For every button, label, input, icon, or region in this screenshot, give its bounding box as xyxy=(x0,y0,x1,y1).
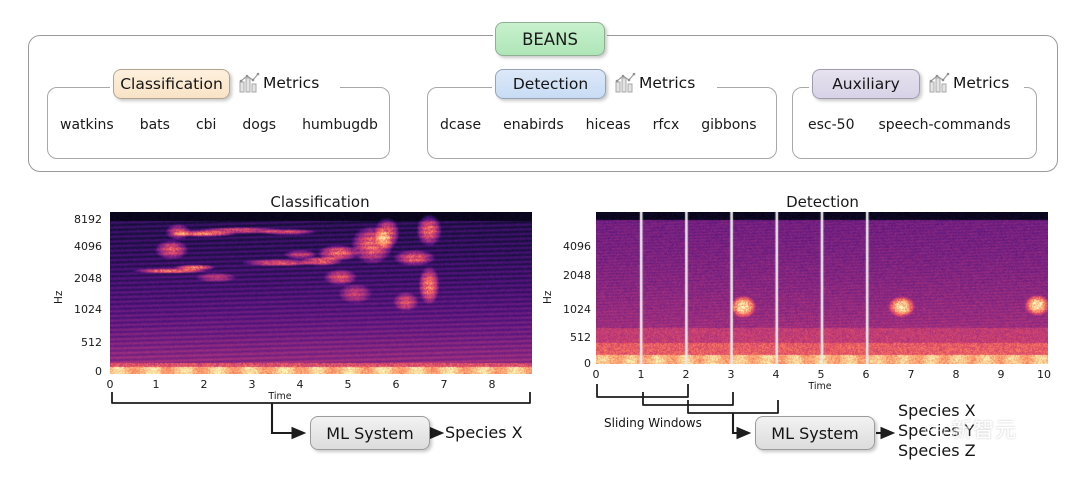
xtick-detection: 7 xyxy=(898,368,924,381)
dataset-item[interactable]: speech-commands xyxy=(878,117,1010,133)
classification-bracket xyxy=(112,392,530,403)
xtick-classification: 7 xyxy=(430,378,458,391)
dataset-item[interactable]: watkins xyxy=(60,117,114,133)
ytick-detection: 512 xyxy=(547,331,591,344)
dataset-item[interactable]: gibbons xyxy=(701,117,756,133)
metrics-detection: Metrics xyxy=(612,72,699,94)
ytick-classification: 2048 xyxy=(58,272,102,285)
classification-spectrogram xyxy=(110,212,532,374)
classification-input-arrow xyxy=(272,403,303,433)
dataset-list-auxiliary: esc-50 speech-commands xyxy=(808,117,1023,133)
ytick-detection: 1024 xyxy=(547,303,591,316)
ytick-classification: 1024 xyxy=(58,303,102,316)
dataset-item[interactable]: hiceas xyxy=(586,117,631,133)
ytick-classification: 512 xyxy=(58,336,102,349)
sliding-window-bracket-2 xyxy=(643,392,733,405)
xtick-detection: 5 xyxy=(808,368,834,381)
bar-chart-trend-icon xyxy=(614,72,636,94)
xtick-detection: 2 xyxy=(673,368,699,381)
xtick-classification: 6 xyxy=(382,378,410,391)
xtick-classification: 3 xyxy=(238,378,266,391)
metrics-label-text: Metrics xyxy=(953,74,1009,92)
metrics-auxiliary: Metrics xyxy=(926,72,1013,94)
beans-root-chip[interactable]: BEANS xyxy=(495,22,605,56)
metrics-label-text: Metrics xyxy=(263,74,319,92)
dataset-item[interactable]: dcase xyxy=(440,117,481,133)
dataset-item[interactable]: bats xyxy=(140,117,170,133)
output-label-detection: Species X Species Y Species Z xyxy=(898,401,976,461)
ml-system-box-detection[interactable]: ML System xyxy=(755,416,875,450)
task-chip-detection[interactable]: Detection xyxy=(495,69,606,99)
xtick-detection: 6 xyxy=(853,368,879,381)
xtick-detection: 9 xyxy=(988,368,1014,381)
figure-title-classification: Classification xyxy=(110,193,530,211)
xtick-detection: 4 xyxy=(763,368,789,381)
output-label-classification: Species X xyxy=(445,423,523,443)
xaxis-label-classification: Time xyxy=(250,391,310,402)
xtick-classification: 8 xyxy=(478,378,506,391)
xtick-detection: 3 xyxy=(718,368,744,381)
dataset-item[interactable]: enabirds xyxy=(503,117,564,133)
dataset-item[interactable]: rfcx xyxy=(653,117,680,133)
xtick-classification: 4 xyxy=(286,378,314,391)
xtick-detection: 0 xyxy=(583,368,609,381)
ytick-classification: 0 xyxy=(58,365,102,378)
detection-spectrogram xyxy=(596,212,1048,364)
ml-system-box-classification[interactable]: ML System xyxy=(310,416,430,450)
xtick-classification: 0 xyxy=(96,378,124,391)
sliding-window-bracket-3 xyxy=(688,400,778,413)
dataset-item[interactable]: cbi xyxy=(196,117,216,133)
bar-chart-trend-icon xyxy=(928,72,950,94)
xtick-detection: 10 xyxy=(1031,368,1057,381)
detection-input-arrow xyxy=(733,413,748,433)
metrics-classification: Metrics xyxy=(236,72,323,94)
figure-root: BEANS Classification Detection Auxiliary… xyxy=(0,0,1080,478)
xtick-classification: 2 xyxy=(190,378,218,391)
spectrogram-canvas xyxy=(596,212,1048,364)
task-chip-auxiliary[interactable]: Auxiliary xyxy=(812,69,920,99)
metrics-label-text: Metrics xyxy=(639,74,695,92)
ytick-classification: 8192 xyxy=(58,213,102,226)
dataset-list-detection: dcase enabirds hiceas rfcx gibbons xyxy=(440,117,770,133)
task-chip-classification[interactable]: Classification xyxy=(113,69,230,99)
xtick-detection: 8 xyxy=(943,368,969,381)
bar-chart-trend-icon xyxy=(238,72,260,94)
xtick-classification: 5 xyxy=(334,378,362,391)
dataset-item[interactable]: humbugdb xyxy=(302,117,378,133)
ytick-detection: 2048 xyxy=(547,269,591,282)
xtick-classification: 1 xyxy=(142,378,170,391)
sliding-window-bracket-1 xyxy=(597,384,688,397)
ytick-classification: 4096 xyxy=(58,240,102,253)
sliding-windows-label: Sliding Windows xyxy=(604,416,702,430)
figure-title-detection: Detection xyxy=(595,193,1050,211)
dataset-item[interactable]: dogs xyxy=(242,117,276,133)
xaxis-label-detection: Time xyxy=(790,381,850,392)
spectrogram-canvas xyxy=(110,212,532,374)
dataset-item[interactable]: esc-50 xyxy=(808,117,854,133)
xtick-detection: 1 xyxy=(628,368,654,381)
ytick-detection: 4096 xyxy=(547,240,591,253)
dataset-list-classification: watkins bats cbi dogs humbugdb xyxy=(60,117,380,133)
